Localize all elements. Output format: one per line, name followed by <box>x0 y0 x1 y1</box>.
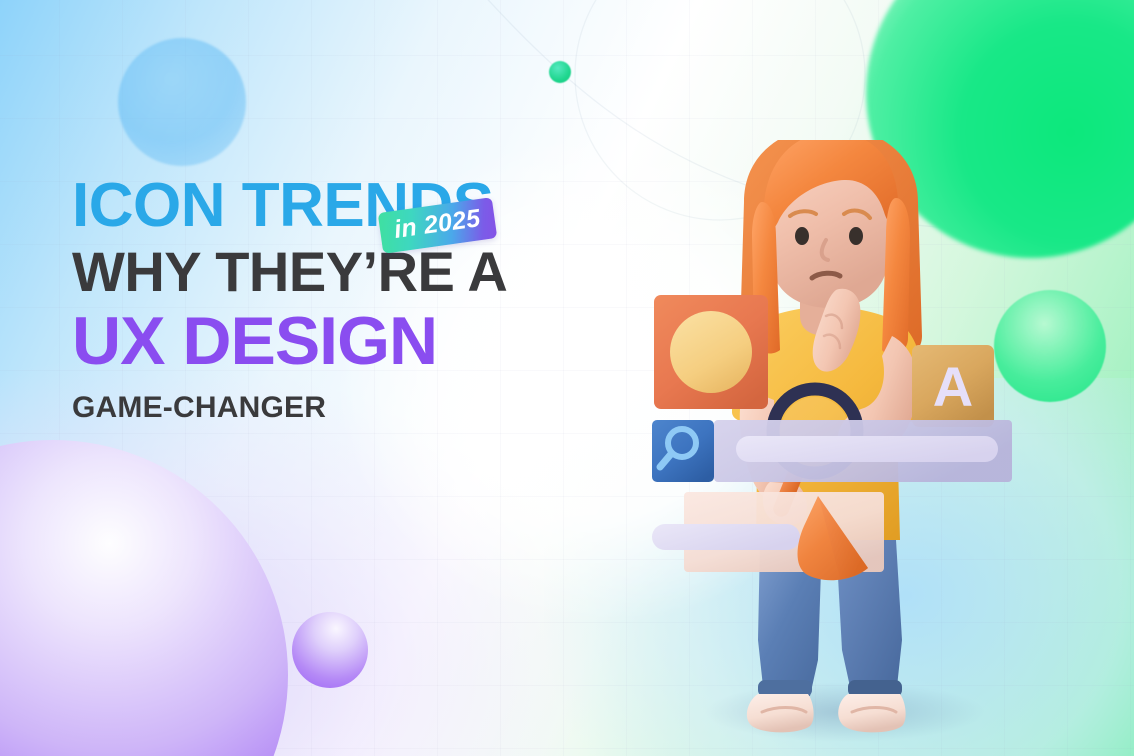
headline-line-1: ICON TRENDS <box>72 176 632 237</box>
search-bar-row <box>652 420 1012 482</box>
hero-illustration: A <box>640 140 1080 756</box>
blue-blob-top-left <box>118 38 246 166</box>
eye-left <box>795 227 809 245</box>
shoe-left <box>747 694 814 732</box>
letter-a-tile: A <box>912 345 994 427</box>
eye-right <box>849 227 863 245</box>
orange-circle-tile <box>654 295 768 409</box>
pink-card-pill <box>652 524 800 550</box>
headline-block: ICON TRENDS WHY THEY’RE A UX DESIGN GAME… <box>72 176 632 424</box>
hero-banner: A <box>0 0 1134 756</box>
headline-line-2: WHY THEY’RE A <box>72 241 632 304</box>
search-field <box>736 436 998 462</box>
svg-text:A: A <box>933 355 973 418</box>
teal-dot <box>549 61 571 83</box>
purple-sphere-small <box>292 612 368 688</box>
headline-line-4: GAME-CHANGER <box>72 391 632 424</box>
headline-line-3: UX DESIGN <box>72 307 632 376</box>
